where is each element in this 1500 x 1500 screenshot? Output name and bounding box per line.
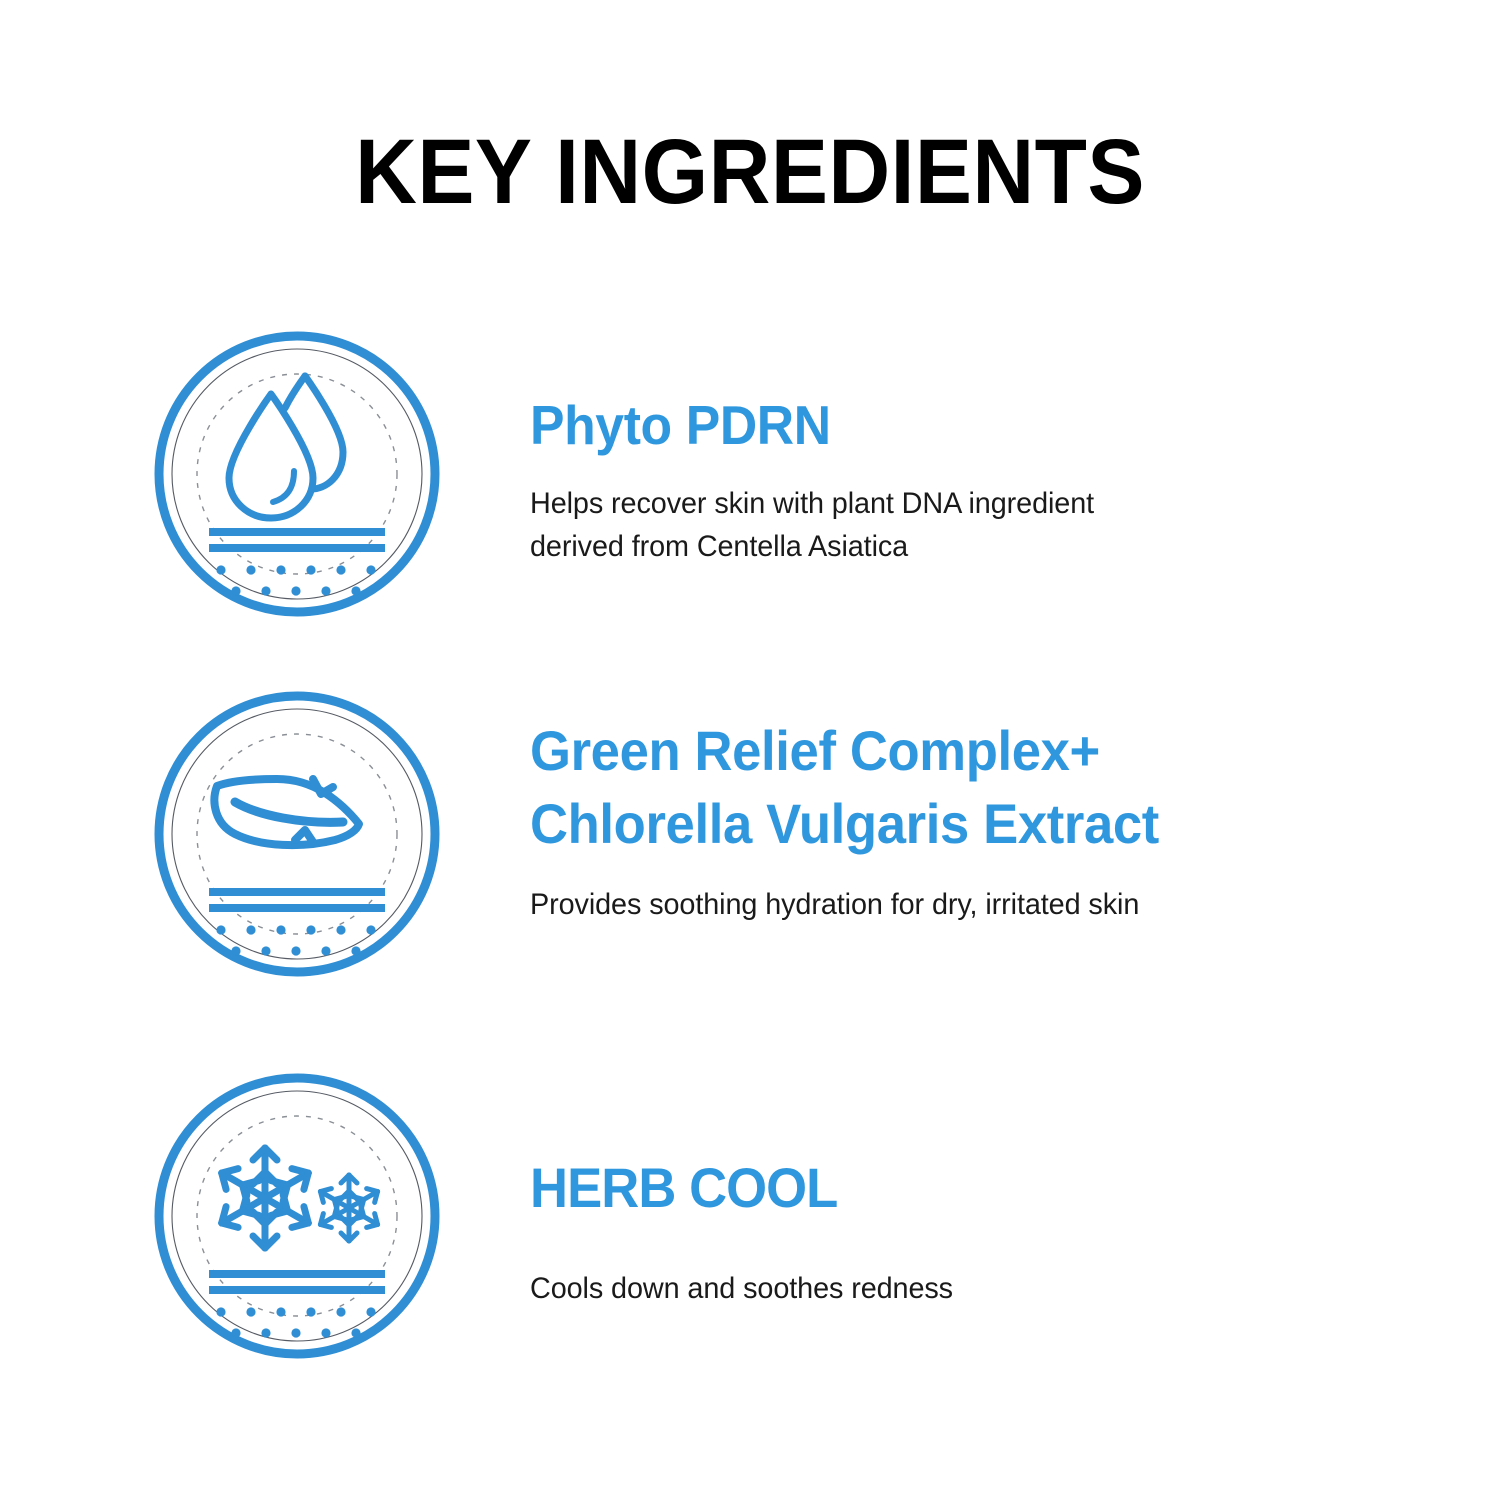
ingredient-icon-badge <box>153 330 441 618</box>
snowflake-icon <box>153 1072 441 1360</box>
leaf-icon <box>153 690 441 978</box>
ingredient-title: Phyto PDRN <box>530 390 1376 462</box>
ingredient-icon-badge <box>153 1072 441 1360</box>
ingredient-item-phyto-pdrn: Phyto PDRN Helps recover skin with plant… <box>0 330 1500 630</box>
ingredient-title: HERB COOL <box>530 1152 1376 1225</box>
water-droplet-icon <box>153 330 441 618</box>
ingredient-item-herb-cool: HERB COOL Cools down and soothes redness <box>0 1072 1500 1372</box>
ingredient-title: Green Relief Complex+ Chlorella Vulgaris… <box>530 715 1376 861</box>
ingredient-description: Cools down and soothes redness <box>530 1267 1394 1311</box>
ingredient-text-column: Phyto PDRN Helps recover skin with plant… <box>530 390 1430 569</box>
ingredient-item-green-relief-complex: Green Relief Complex+ Chlorella Vulgaris… <box>0 690 1500 990</box>
ingredient-icon-badge <box>153 690 441 978</box>
ingredient-description: Provides soothing hydration for dry, irr… <box>530 883 1394 927</box>
ingredient-text-column: Green Relief Complex+ Chlorella Vulgaris… <box>530 715 1430 926</box>
ingredient-text-column: HERB COOL Cools down and soothes redness <box>530 1152 1430 1310</box>
page-title: KEY INGREDIENTS <box>53 126 1448 218</box>
ingredient-description: Helps recover skin with plant DNA ingred… <box>530 482 1394 569</box>
